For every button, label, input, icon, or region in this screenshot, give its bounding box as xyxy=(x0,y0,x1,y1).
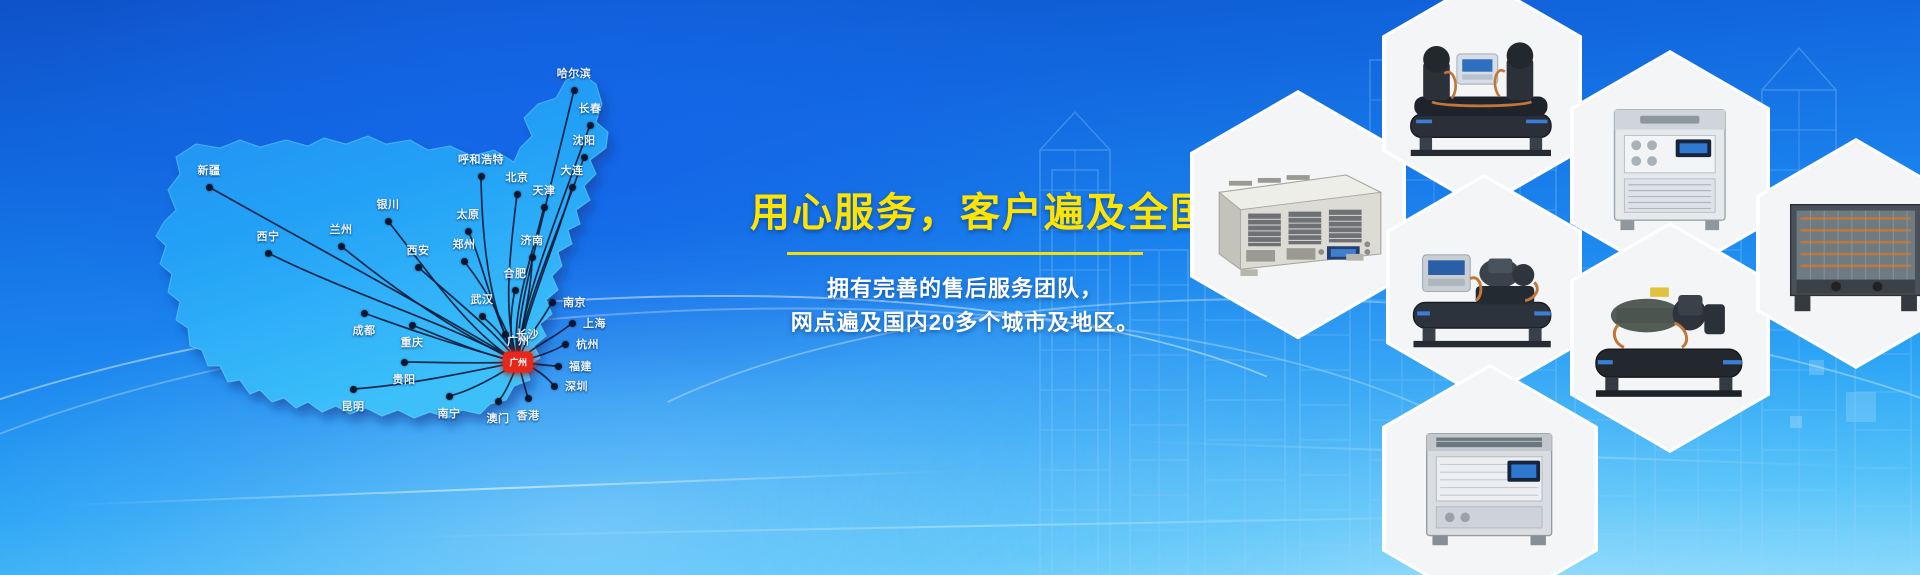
promo-copy: 用心服务，客户遍及全国 拥有完善的售后服务团队， 网点遍及国内20多个城市及地区… xyxy=(750,190,1180,340)
hub-pin-text: 广州 xyxy=(509,356,526,369)
subtitle: 拥有完善的售后服务团队， 网点遍及国内20多个城市及地区。 xyxy=(750,272,1180,340)
box-unit-icon xyxy=(1202,103,1394,326)
coil-unit-icon xyxy=(1767,150,1920,356)
product-hex-open-type-chiller-unit[interactable] xyxy=(1570,222,1770,453)
product-image-low-temperature-chiller xyxy=(1386,368,1595,575)
product-hex-condensing-unit[interactable] xyxy=(1386,174,1582,400)
hub-label: 广州 xyxy=(507,333,529,349)
product-image-open-type-chiller-unit xyxy=(1574,226,1767,450)
product-image-water-cooled-screw-chiller xyxy=(1386,0,1579,205)
subtitle-line-1: 拥有完善的售后服务团队， xyxy=(750,272,1180,306)
cabinet-panel-icon-2 xyxy=(1394,377,1586,575)
glow-line-1 xyxy=(60,470,959,507)
china-map: 哈尔滨长春沈阳大连呼和浩特北京天津新疆银川太原兰州西宁西安郑州济南合肥南京上海杭… xyxy=(110,14,730,434)
product-hex-air-cooled-condenser[interactable] xyxy=(1756,138,1920,369)
product-hexagon-gallery xyxy=(1190,0,1920,575)
subtitle-line-2: 网点遍及国内20多个城市及地区。 xyxy=(750,306,1180,340)
page-title: 用心服务，客户遍及全国 xyxy=(750,190,1180,236)
product-image-condensing-unit xyxy=(1390,178,1579,397)
service-network-banner: 哈尔滨长春沈阳大连呼和浩特北京天津新疆银川太原兰州西宁西安郑州济南合肥南京上海杭… xyxy=(0,0,1920,575)
screw-chiller-icon xyxy=(1393,0,1571,196)
compressor-tank-icon-2 xyxy=(1581,234,1759,440)
compressor-tank-icon xyxy=(1397,186,1571,388)
product-hex-air-cooled-box-chiller[interactable] xyxy=(1190,90,1406,339)
product-image-air-cooled-condenser xyxy=(1760,142,1920,366)
product-hex-low-temperature-chiller[interactable] xyxy=(1382,364,1598,575)
title-divider xyxy=(787,252,1143,255)
hub-marker-guangzhou[interactable]: 广州 广州 xyxy=(503,352,533,373)
china-map-shape xyxy=(110,14,730,434)
hub-pin-icon: 广州 xyxy=(503,352,533,373)
product-image-air-cooled-box-chiller xyxy=(1194,94,1403,336)
